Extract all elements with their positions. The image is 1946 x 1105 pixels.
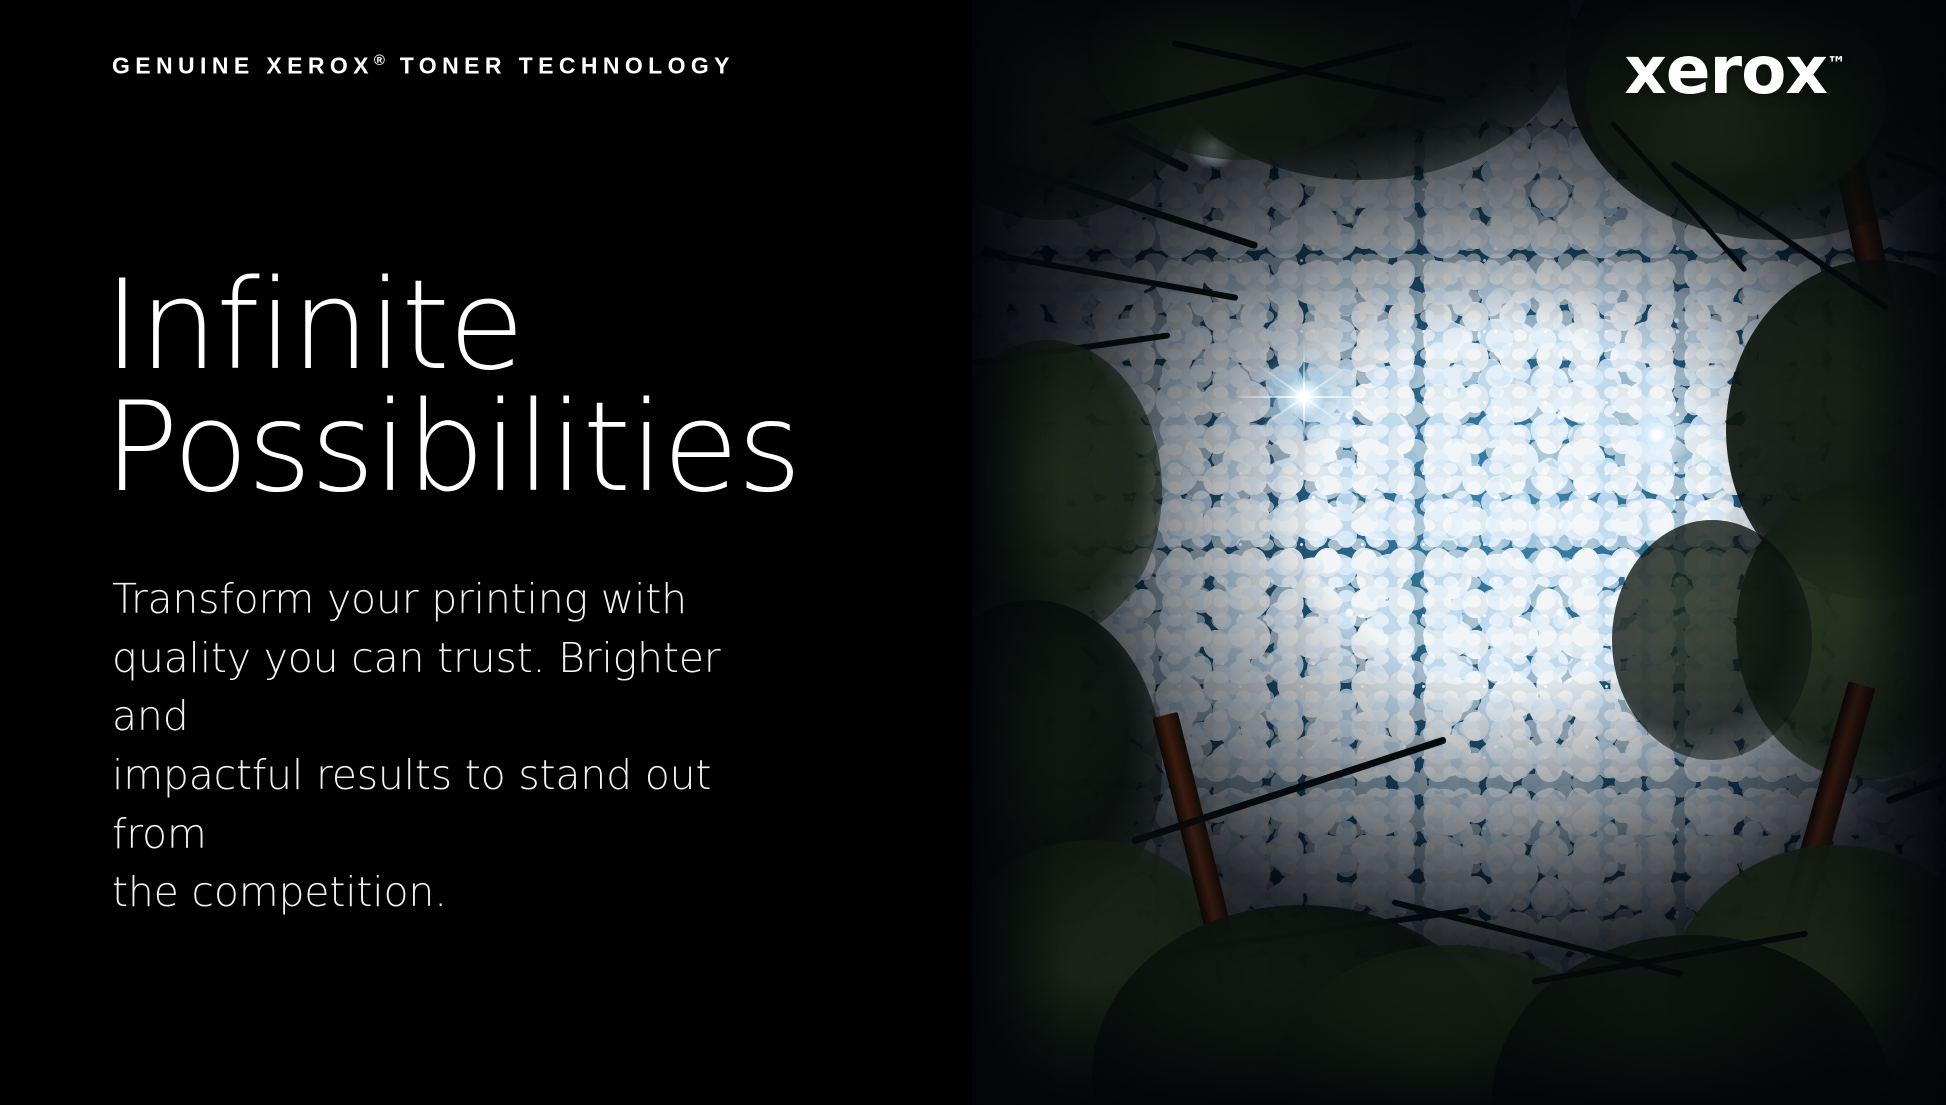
image-edge-shading xyxy=(972,0,1946,1105)
xerox-logo: xerox™ xyxy=(1624,38,1846,104)
body-paragraph: Transform your printing with quality you… xyxy=(112,570,752,922)
page-title: Infinite Possibilities xyxy=(104,266,800,509)
headline-line-1: Infinite xyxy=(104,266,800,388)
body-line-2: quality you can trust. Brighter and xyxy=(112,629,752,746)
text-panel: GENUINE XEROX® TONER TECHNOLOGY Infinite… xyxy=(0,0,972,1105)
registered-trademark-icon: ® xyxy=(374,52,388,69)
xerox-wordmark: xerox xyxy=(1624,32,1827,109)
trademark-icon: ™ xyxy=(1827,53,1846,75)
headline-line-2: Possibilities xyxy=(104,388,800,510)
body-line-4: the competition. xyxy=(112,863,752,922)
eyebrow-label: GENUINE XEROX® TONER TECHNOLOGY xyxy=(112,52,735,80)
body-line-1: Transform your printing with xyxy=(112,570,752,629)
hero-image-panel: xerox™ xyxy=(972,0,1946,1105)
eyebrow-suffix: TONER TECHNOLOGY xyxy=(388,53,735,79)
marketing-banner: GENUINE XEROX® TONER TECHNOLOGY Infinite… xyxy=(0,0,1946,1105)
eyebrow-prefix: GENUINE XEROX xyxy=(112,53,374,79)
body-line-3: impactful results to stand out from xyxy=(112,746,752,863)
